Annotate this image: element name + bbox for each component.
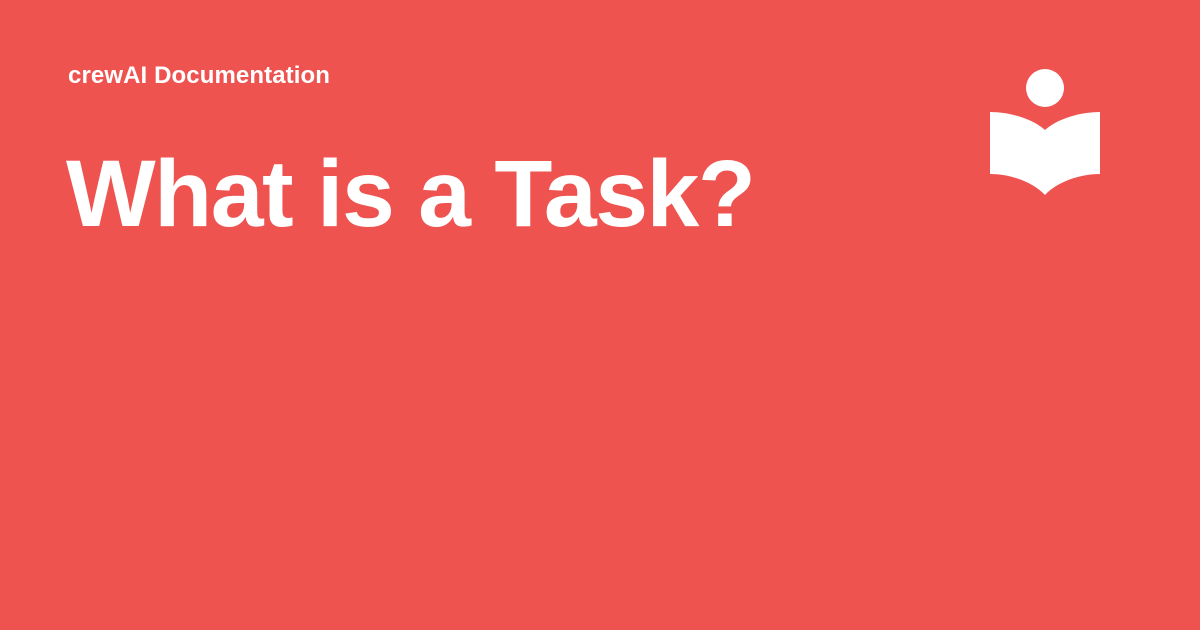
- page-title: What is a Task?: [66, 144, 926, 245]
- card-text-block: crewAI Documentation What is a Task?: [66, 62, 926, 244]
- open-book-reader-icon: [990, 68, 1100, 198]
- site-name-eyebrow: crewAI Documentation: [66, 62, 926, 91]
- brand-logo: [990, 68, 1100, 198]
- og-card: crewAI Documentation What is a Task?: [0, 0, 1200, 630]
